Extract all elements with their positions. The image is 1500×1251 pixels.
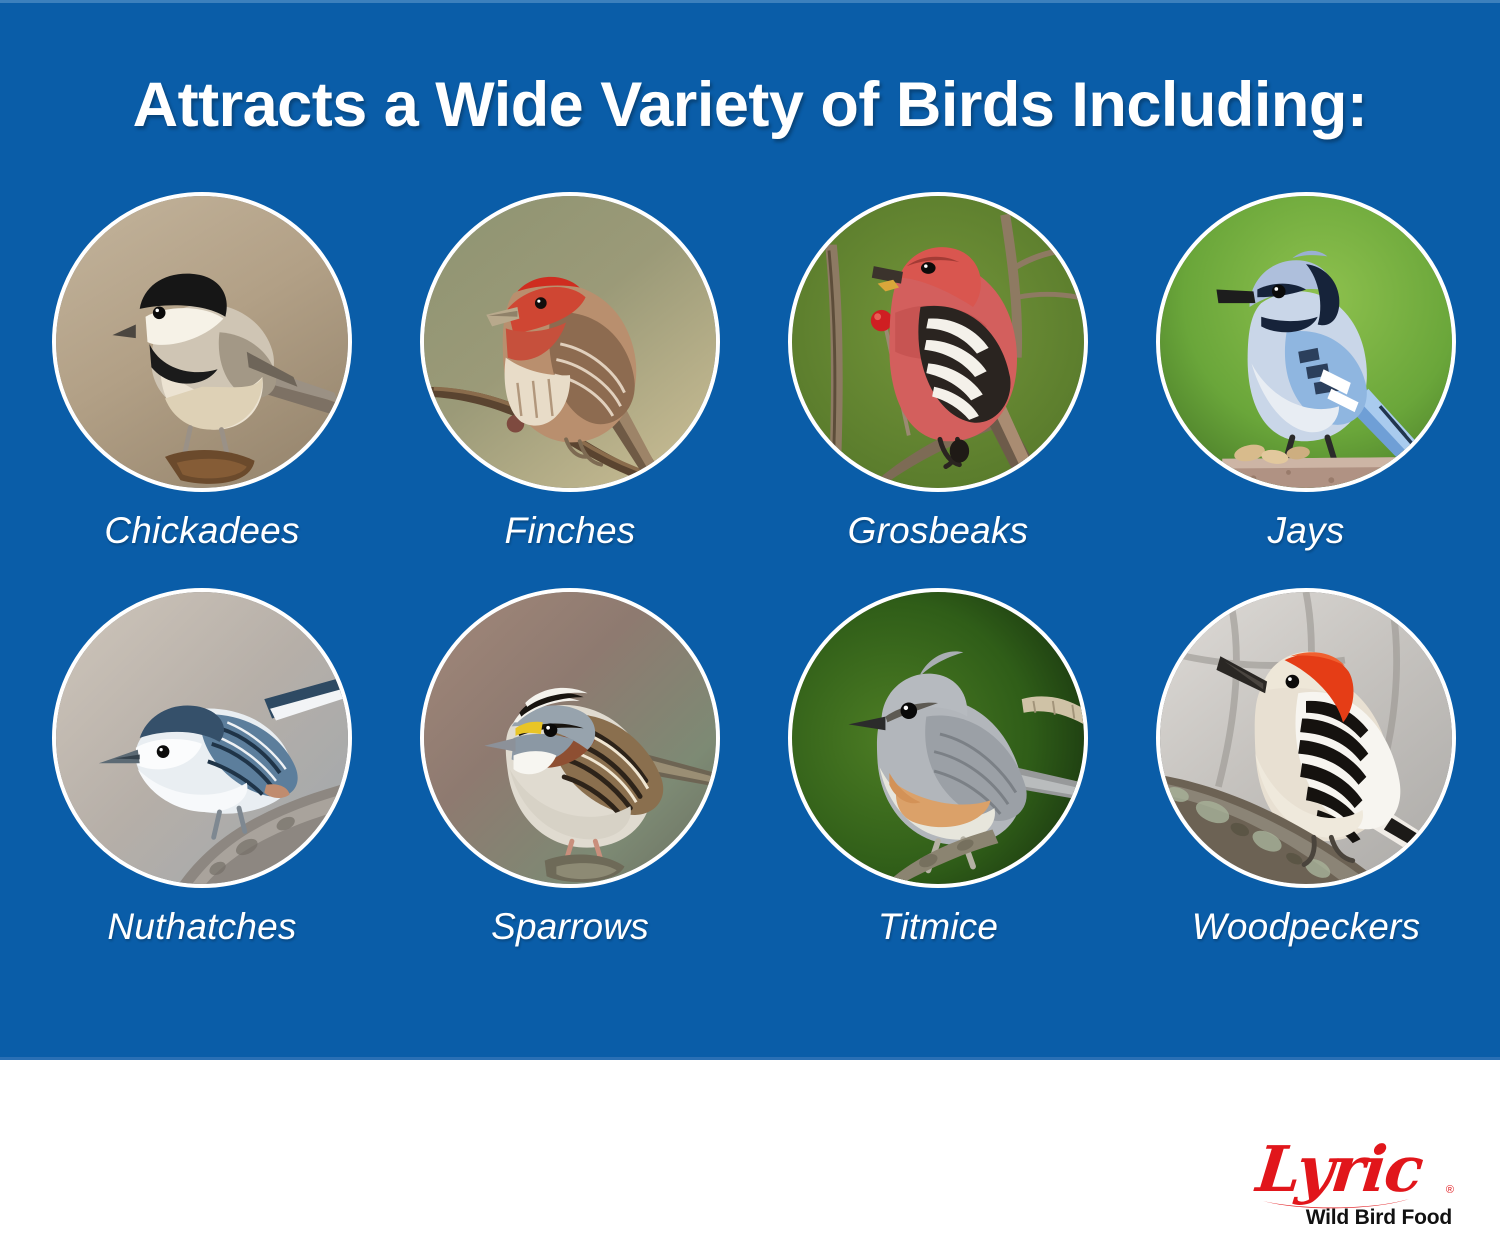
bird-image-circle — [52, 192, 352, 492]
grosbeak-photo-icon — [792, 196, 1084, 488]
panel-top-hairline — [0, 0, 1500, 3]
bird-grid: Chickadees — [52, 192, 1456, 948]
bird-card-chickadees: Chickadees — [52, 192, 352, 552]
finch-photo-icon — [424, 196, 716, 488]
nuthatch-photo-icon — [56, 592, 348, 884]
bird-label: Titmice — [878, 906, 998, 948]
bird-image-circle — [420, 192, 720, 492]
titmouse-photo-icon — [792, 592, 1084, 884]
registered-trademark-symbol: ® — [1446, 1184, 1454, 1196]
sparrow-photo-icon — [424, 592, 716, 884]
bird-label: Jays — [1268, 510, 1345, 552]
bird-label: Chickadees — [104, 510, 299, 552]
bird-card-sparrows: Sparrows — [420, 588, 720, 948]
chickadee-photo-icon — [56, 196, 348, 488]
bird-label: Finches — [505, 510, 636, 552]
logo-tagline: Wild Bird Food — [1306, 1206, 1452, 1230]
bird-image-circle — [52, 588, 352, 888]
logo-wordmark: Lyric — [1253, 1132, 1456, 1206]
bird-label: Nuthatches — [107, 906, 296, 948]
bird-card-nuthatches: Nuthatches — [52, 588, 352, 948]
bird-image-circle — [788, 588, 1088, 888]
bird-card-jays: Jays — [1156, 192, 1456, 552]
bird-food-poster: Attracts a Wide Variety of Birds Includi… — [0, 0, 1500, 1251]
bird-label: Grosbeaks — [848, 510, 1029, 552]
bird-card-finches: Finches — [420, 192, 720, 552]
bird-card-titmice: Titmice — [788, 588, 1088, 948]
bird-card-woodpeckers: Woodpeckers — [1156, 588, 1456, 948]
bird-label: Woodpeckers — [1192, 906, 1420, 948]
bird-image-circle — [1156, 192, 1456, 492]
bird-image-circle — [420, 588, 720, 888]
bird-image-circle — [788, 192, 1088, 492]
woodpecker-photo-icon — [1160, 592, 1452, 884]
bird-image-circle — [1156, 588, 1456, 888]
bird-card-grosbeaks: Grosbeaks — [788, 192, 1088, 552]
bird-label: Sparrows — [491, 906, 649, 948]
brand-logo: Lyric ® Wild Bird Food — [1257, 1132, 1452, 1232]
jay-photo-icon — [1160, 196, 1452, 488]
page-title: Attracts a Wide Variety of Birds Includi… — [0, 72, 1500, 138]
